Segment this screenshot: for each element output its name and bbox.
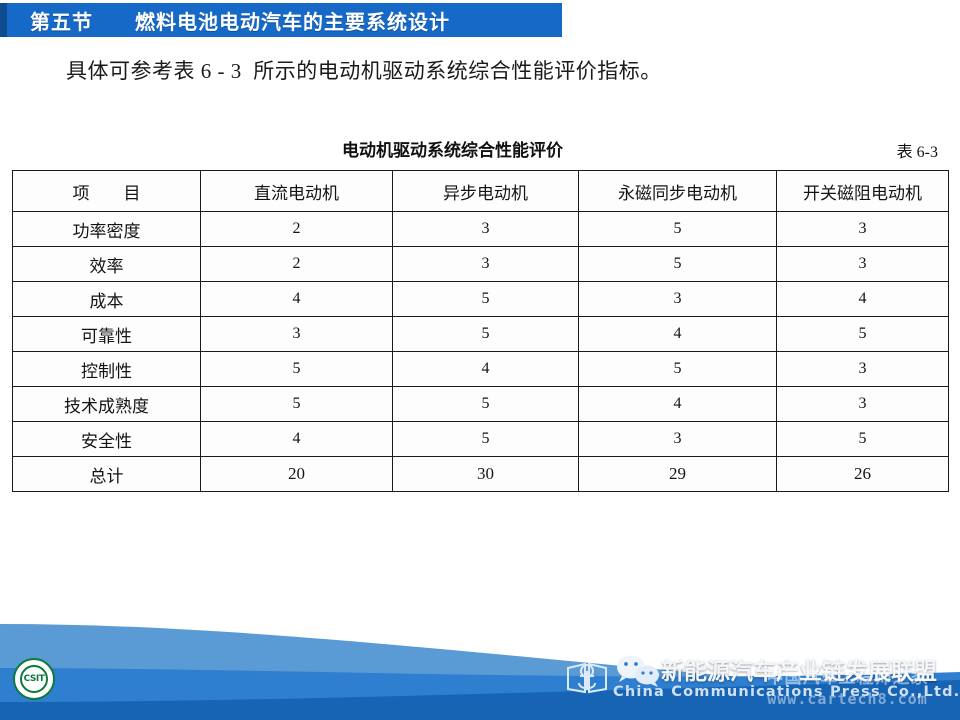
evaluation-table: 项 目 直流电动机 异步电动机 永磁同步电动机 开关磁阻电动机 功率密度 2 3… (12, 170, 949, 492)
table-cell: 4 (393, 352, 579, 387)
table-cell: 5 (579, 212, 777, 247)
table-row: 效率 2 3 5 3 (13, 247, 949, 282)
column-header-async: 异步电动机 (393, 171, 579, 212)
table-cell: 5 (393, 317, 579, 352)
table-row: 安全性 4 5 3 5 (13, 422, 949, 457)
table-cell: 3 (777, 352, 949, 387)
table-cell: 5 (201, 387, 393, 422)
table-header-row: 项 目 直流电动机 异步电动机 永磁同步电动机 开关磁阻电动机 (13, 171, 949, 212)
publisher-block: 新能源汽车产业链发展联盟 China Communications Press … (565, 652, 960, 714)
table-cell: 26 (777, 457, 949, 492)
table-cell: 30 (393, 457, 579, 492)
table-caption-title: 电动机驱动系统综合性能评价 (342, 136, 563, 161)
column-header-pmsm: 永磁同步电动机 (579, 171, 777, 212)
column-header-dc: 直流电动机 (201, 171, 393, 212)
table-cell: 3 (777, 387, 949, 422)
table-cell: 5 (579, 247, 777, 282)
table-caption-number: 表 6-3 (897, 138, 938, 162)
table-cell: 5 (393, 282, 579, 317)
column-header-srm: 开关磁阻电动机 (777, 171, 949, 212)
table-cell: 4 (579, 387, 777, 422)
table-row: 控制性 5 4 5 3 (13, 352, 949, 387)
table-cell: 3 (201, 317, 393, 352)
table-row: 可靠性 3 5 4 5 (13, 317, 949, 352)
table-cell: 5 (393, 422, 579, 457)
table-cell: 4 (579, 317, 777, 352)
table-total-row: 总计 20 30 29 26 (13, 457, 949, 492)
row-label: 总计 (13, 457, 201, 492)
table-row: 技术成熟度 5 5 4 3 (13, 387, 949, 422)
table-cell: 3 (777, 247, 949, 282)
table-cell: 3 (777, 212, 949, 247)
slide-footer: CSIT 新能源汽车产业链发展联盟 China Communications P… (0, 610, 960, 720)
page-title: 第五节 燃料电池电动汽车的主要系统设计 (30, 6, 450, 35)
slide-header-edge-accent (0, 3, 7, 37)
column-header-item: 项 目 (13, 171, 201, 212)
table-cell: 29 (579, 457, 777, 492)
wechat-icon (615, 654, 661, 688)
publisher-name: China Communications Press Co.,Ltd. (613, 684, 960, 700)
table-cell: 3 (579, 282, 777, 317)
table-row: 功率密度 2 3 5 3 (13, 212, 949, 247)
body-paragraph: 具体可参考表 6 - 3 所示的电动机驱动系统综合性能评价指标。 (66, 55, 662, 85)
table-cell: 4 (201, 282, 393, 317)
slide-header-bar: 第五节 燃料电池电动汽车的主要系统设计 (0, 3, 562, 37)
table-cell: 5 (579, 352, 777, 387)
table-cell: 4 (777, 282, 949, 317)
row-label: 安全性 (13, 422, 201, 457)
row-label: 技术成熟度 (13, 387, 201, 422)
table-cell: 5 (393, 387, 579, 422)
table-cell: 5 (777, 317, 949, 352)
row-label: 成本 (13, 282, 201, 317)
row-label: 可靠性 (13, 317, 201, 352)
promo-overlay-text: 新能源汽车产业链发展联盟 (661, 652, 937, 686)
table-caption: 电动机驱动系统综合性能评价 表 6-3 (12, 136, 948, 162)
publisher-book-anchor-icon (565, 658, 609, 698)
table-cell: 4 (201, 422, 393, 457)
table-cell: 2 (201, 212, 393, 247)
table-cell: 5 (201, 352, 393, 387)
table-row: 成本 4 5 3 4 (13, 282, 949, 317)
csit-logo-text: CSIT (20, 665, 48, 693)
table-cell: 3 (579, 422, 777, 457)
table-cell: 20 (201, 457, 393, 492)
row-label: 功率密度 (13, 212, 201, 247)
row-label: 效率 (13, 247, 201, 282)
table-cell: 3 (393, 247, 579, 282)
csit-seal-logo: CSIT (13, 658, 55, 700)
table-cell: 2 (201, 247, 393, 282)
table-cell: 5 (777, 422, 949, 457)
table-cell: 3 (393, 212, 579, 247)
row-label: 控制性 (13, 352, 201, 387)
